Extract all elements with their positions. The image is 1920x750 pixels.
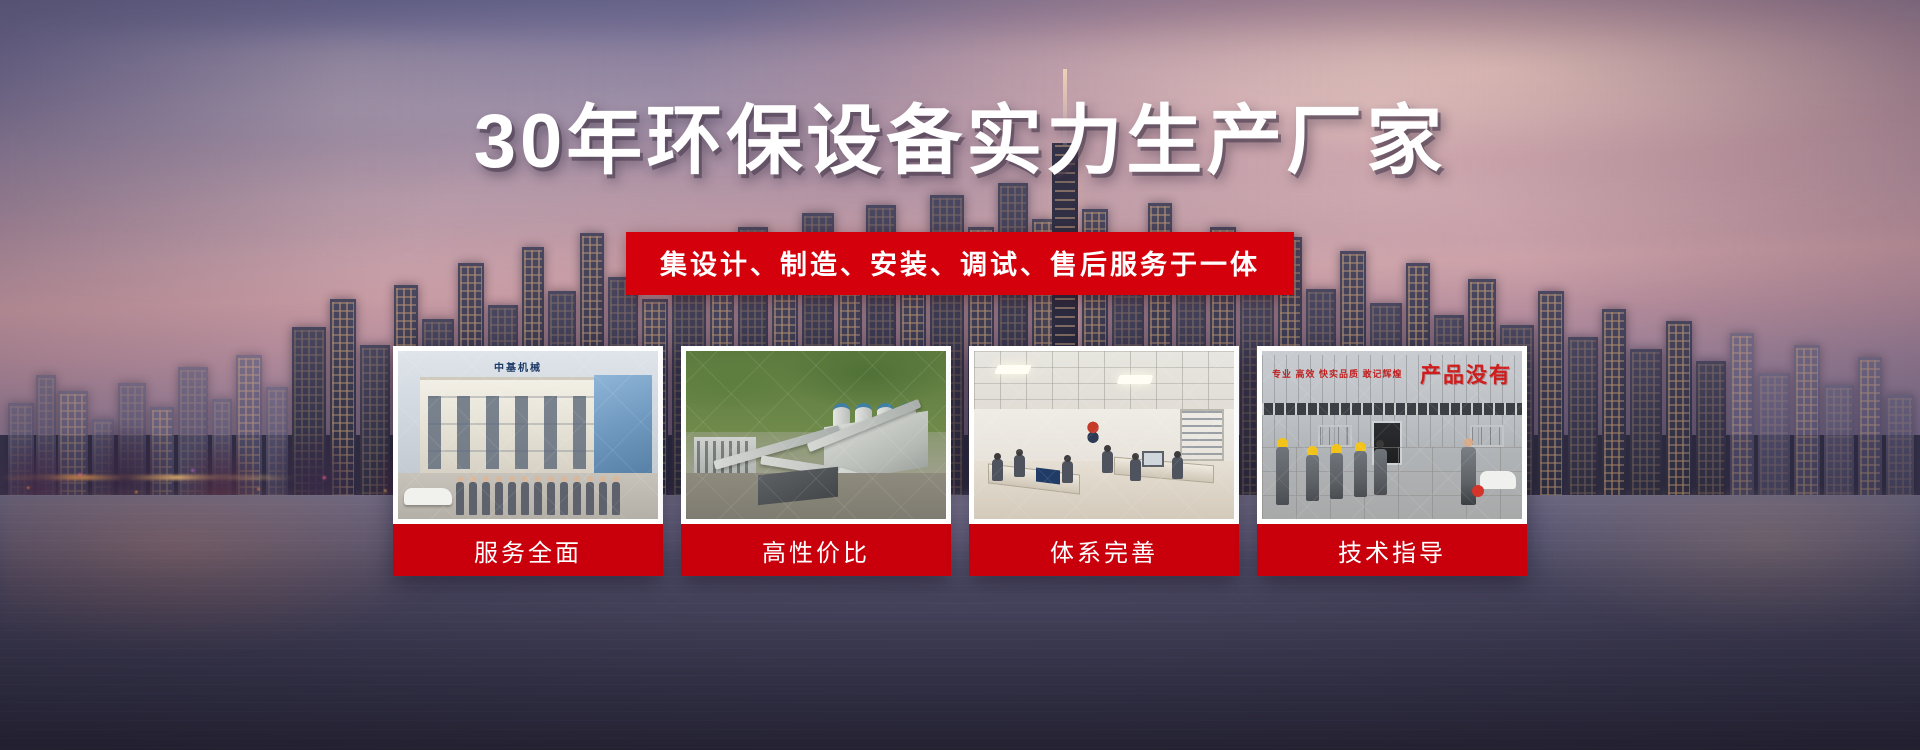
subtitle-banner: 集设计、制造、安装、调试、售后服务于一体: [626, 232, 1294, 295]
feature-card[interactable]: 中基机械 服务全面: [393, 346, 663, 576]
staff-lineup: [456, 475, 654, 515]
supervisor-figure: [1461, 447, 1476, 505]
card-label: 技术指导: [1257, 524, 1527, 576]
feature-card[interactable]: 高性价比: [681, 346, 951, 576]
page-title: 30年环保设备实力生产厂家: [0, 104, 1920, 180]
red-helmet-icon: [1472, 485, 1484, 497]
hero-banner: 30年环保设备实力生产厂家 集设计、制造、安装、调试、售后服务于一体 中基机械 …: [0, 0, 1920, 750]
worker-figure: [1306, 455, 1319, 501]
worker-figure: [1330, 453, 1343, 499]
subtitle-text: 集设计、制造、安装、调试、售后服务于一体: [660, 243, 1260, 282]
factory-slogan-small-text: 专业 高效 快实品质 敢记辉煌: [1272, 369, 1403, 380]
parked-truck: [1480, 471, 1516, 489]
banner-content: 30年环保设备实力生产厂家 集设计、制造、安装、调试、售后服务于一体 中基机械 …: [0, 0, 1920, 750]
card-label: 服务全面: [393, 524, 663, 576]
wall-emblem-icon: [1078, 417, 1108, 443]
card-thumbnail-factory-workers: 产品没有 专业 高效 快实品质 敢记辉煌: [1262, 351, 1522, 519]
feature-card-list: 中基机械 服务全面: [393, 346, 1527, 576]
worker-figure: [1276, 447, 1289, 505]
feature-card[interactable]: 产品没有 专业 高效 快实品质 敢记辉煌 技术指导: [1257, 346, 1527, 576]
card-thumbnail-office-interior: [974, 351, 1234, 519]
parked-car: [404, 488, 452, 505]
card-label: 体系完善: [969, 524, 1239, 576]
building-signage-text: 中基机械: [494, 359, 542, 374]
worker-figure: [1354, 451, 1367, 497]
card-thumbnail-industrial-plant: [686, 351, 946, 519]
feature-card[interactable]: 体系完善: [969, 346, 1239, 576]
factory-slogan-text: 产品没有: [1420, 359, 1512, 389]
card-label: 高性价比: [681, 524, 951, 576]
worker-figure: [1374, 449, 1387, 495]
card-thumbnail-office-building: 中基机械: [398, 351, 658, 519]
